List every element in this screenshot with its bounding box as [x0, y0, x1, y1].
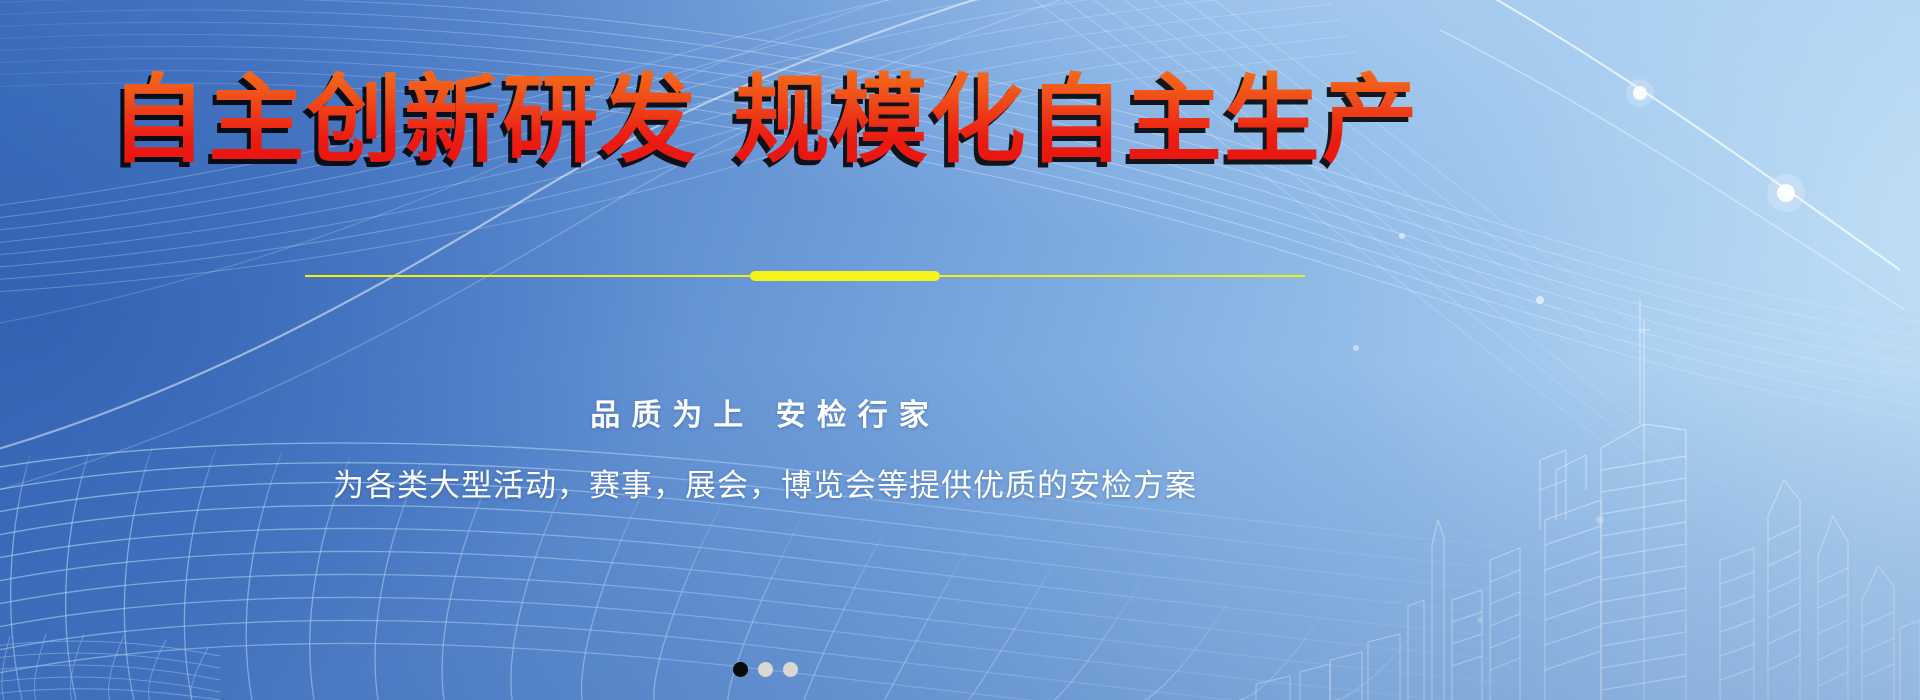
- hero-banner: 自主创新研发 规模化自主生产 品质为上 安检行家 为各类大型活动，赛事，展会，博…: [0, 0, 1920, 700]
- carousel-dot-2[interactable]: [758, 662, 773, 677]
- carousel-dot-1[interactable]: [733, 662, 748, 677]
- subtitle-container: 品质为上 安检行家 为各类大型活动，赛事，展会，博览会等提供优质的安检方案: [0, 390, 1530, 505]
- title-container: 自主创新研发 规模化自主生产: [0, 70, 1530, 171]
- divider-center-bar: [750, 271, 940, 281]
- main-title: 自主创新研发 规模化自主生产: [110, 70, 1419, 171]
- subtitle-secondary: 为各类大型活动，赛事，展会，博览会等提供优质的安检方案: [0, 460, 1530, 505]
- carousel-dot-3[interactable]: [783, 662, 798, 677]
- yellow-divider: [305, 270, 1305, 282]
- subtitle-primary: 品质为上 安检行家: [0, 390, 1530, 434]
- carousel-dots[interactable]: [0, 662, 1530, 677]
